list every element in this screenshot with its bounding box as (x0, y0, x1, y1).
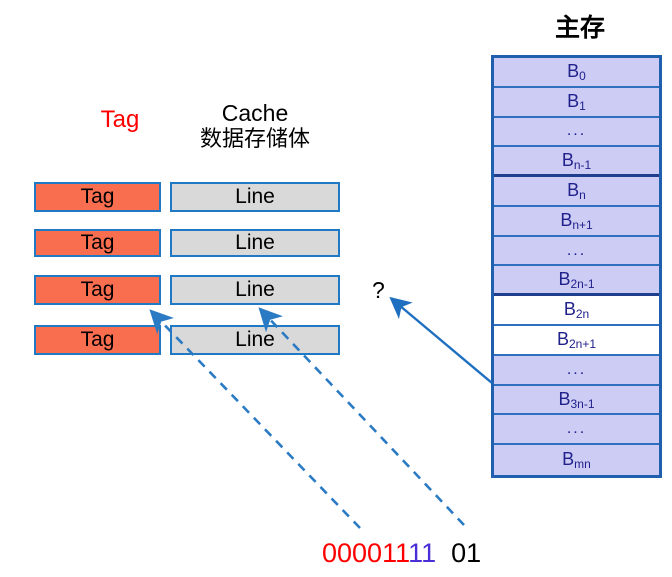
question-mark-annotation: ? (372, 277, 385, 304)
memory-block-row: Bn (494, 177, 659, 207)
address-index-bits: 11 (408, 538, 436, 568)
diagram-canvas: Tag Cache 数据存储体 主存 Tag Tag Tag Tag Line … (0, 0, 672, 577)
memory-block-row: B2n+1 (494, 326, 659, 356)
memory-block-subscript: 0 (579, 69, 586, 83)
memory-column-header: 主存 (540, 14, 620, 43)
memory-block-row: ... (494, 237, 659, 267)
memory-block-row: Bn+1 (494, 207, 659, 237)
memory-block-row: B2n-1 (494, 267, 659, 297)
main-memory-column: B0B1...Bn-1BnBn+1...B2n-1B2nB2n+1...B3n-… (491, 55, 662, 478)
cache-line-box: Line (170, 229, 340, 257)
memory-block-row: ... (494, 356, 659, 386)
memory-block-label: B3n-1 (558, 389, 594, 411)
memory-block-row: B3n-1 (494, 386, 659, 416)
address-offset-bits: 01 (451, 538, 481, 568)
memory-block-label: Bn (567, 180, 586, 202)
memory-block-subscript: n+1 (572, 218, 592, 232)
memory-block-row: Bmn (494, 445, 659, 475)
cache-tag-box: Tag (34, 325, 161, 355)
cache-column-header: Cache 数据存储体 (170, 100, 340, 152)
memory-block-label: B2n+1 (557, 329, 596, 351)
cache-line-box: Line (170, 325, 340, 355)
cache-header-line1: Cache (222, 100, 288, 126)
memory-block-row: Bn-1 (494, 147, 659, 177)
memory-block-subscript: 3n-1 (570, 397, 594, 411)
cache-line-box: Line (170, 275, 340, 305)
memory-block-ellipsis: ... (567, 420, 586, 438)
memory-block-row: B0 (494, 58, 659, 88)
memory-block-label: Bmn (562, 449, 591, 471)
memory-block-row: ... (494, 118, 659, 148)
memory-to-question-arrow (393, 300, 492, 383)
cache-tag-box: Tag (34, 229, 161, 257)
memory-block-label: B1 (567, 91, 586, 113)
memory-block-subscript: 1 (579, 99, 586, 113)
address-bit-string: 00001111 01 (322, 538, 481, 569)
cache-line-box: Line (170, 182, 340, 212)
cache-header-line2: 数据存储体 (170, 126, 340, 151)
memory-block-row: B2n (494, 296, 659, 326)
memory-block-subscript: n (579, 188, 586, 202)
tag-column-header: Tag (75, 106, 165, 134)
memory-block-row: B1 (494, 88, 659, 118)
memory-block-row: ... (494, 415, 659, 445)
memory-block-label: Bn+1 (560, 210, 592, 232)
memory-block-label: B2n-1 (558, 269, 594, 291)
memory-block-subscript: 2n+1 (569, 337, 596, 351)
memory-block-subscript: mn (574, 457, 591, 471)
memory-block-ellipsis: ... (567, 361, 586, 379)
memory-block-subscript: n-1 (574, 158, 591, 172)
cache-tag-box: Tag (34, 275, 161, 305)
memory-block-label: B0 (567, 61, 586, 83)
memory-block-ellipsis: ... (567, 122, 586, 140)
memory-block-subscript: 2n (576, 307, 589, 321)
memory-block-label: B2n (564, 299, 589, 321)
memory-block-subscript: 2n-1 (570, 277, 594, 291)
cache-tag-box: Tag (34, 182, 161, 212)
address-tag-bits: 000011 (322, 538, 408, 568)
memory-block-ellipsis: ... (567, 242, 586, 260)
memory-block-label: Bn-1 (562, 150, 591, 172)
